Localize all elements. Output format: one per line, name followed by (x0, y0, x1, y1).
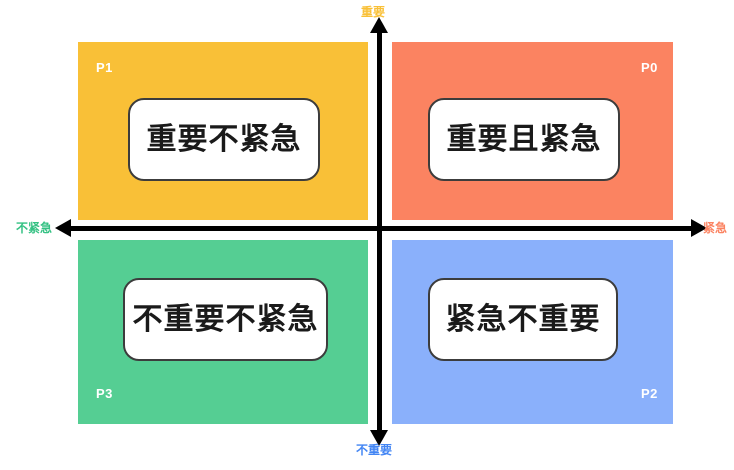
quadrant-tag-p3: P3 (96, 387, 113, 400)
quadrant-tag-p2: P2 (641, 387, 658, 400)
arrow-left-icon (55, 219, 71, 237)
axis-label-urgent: 紧急 (703, 222, 727, 234)
quadrant-label-text-p2: 紧急不重要 (446, 305, 601, 335)
vertical-axis-line (377, 30, 382, 432)
axis-label-not-urgent: 不紧急 (16, 222, 52, 234)
quadrant-label-box-p3: 不重要不紧急 (123, 278, 328, 361)
quadrant-label-text-p1: 重要不紧急 (147, 125, 302, 155)
axis-label-important: 重要 (361, 6, 385, 18)
horizontal-axis-line (68, 226, 695, 231)
quadrant-label-box-p1: 重要不紧急 (128, 98, 320, 181)
quadrant-label-text-p0: 重要且紧急 (447, 125, 602, 155)
quadrant-tag-p1: P1 (96, 61, 113, 74)
quadrant-label-box-p2: 紧急不重要 (428, 278, 618, 361)
quadrant-tag-p0: P0 (641, 61, 658, 74)
priority-matrix-diagram: P1 P0 P3 P2 重要不紧急 重要且紧急 不重要不紧急 紧急不重要 重要 … (0, 0, 734, 470)
axis-label-not-important: 不重要 (356, 444, 392, 456)
quadrant-label-box-p0: 重要且紧急 (428, 98, 620, 181)
quadrant-label-text-p3: 不重要不紧急 (133, 305, 319, 335)
arrow-up-icon (370, 17, 388, 33)
